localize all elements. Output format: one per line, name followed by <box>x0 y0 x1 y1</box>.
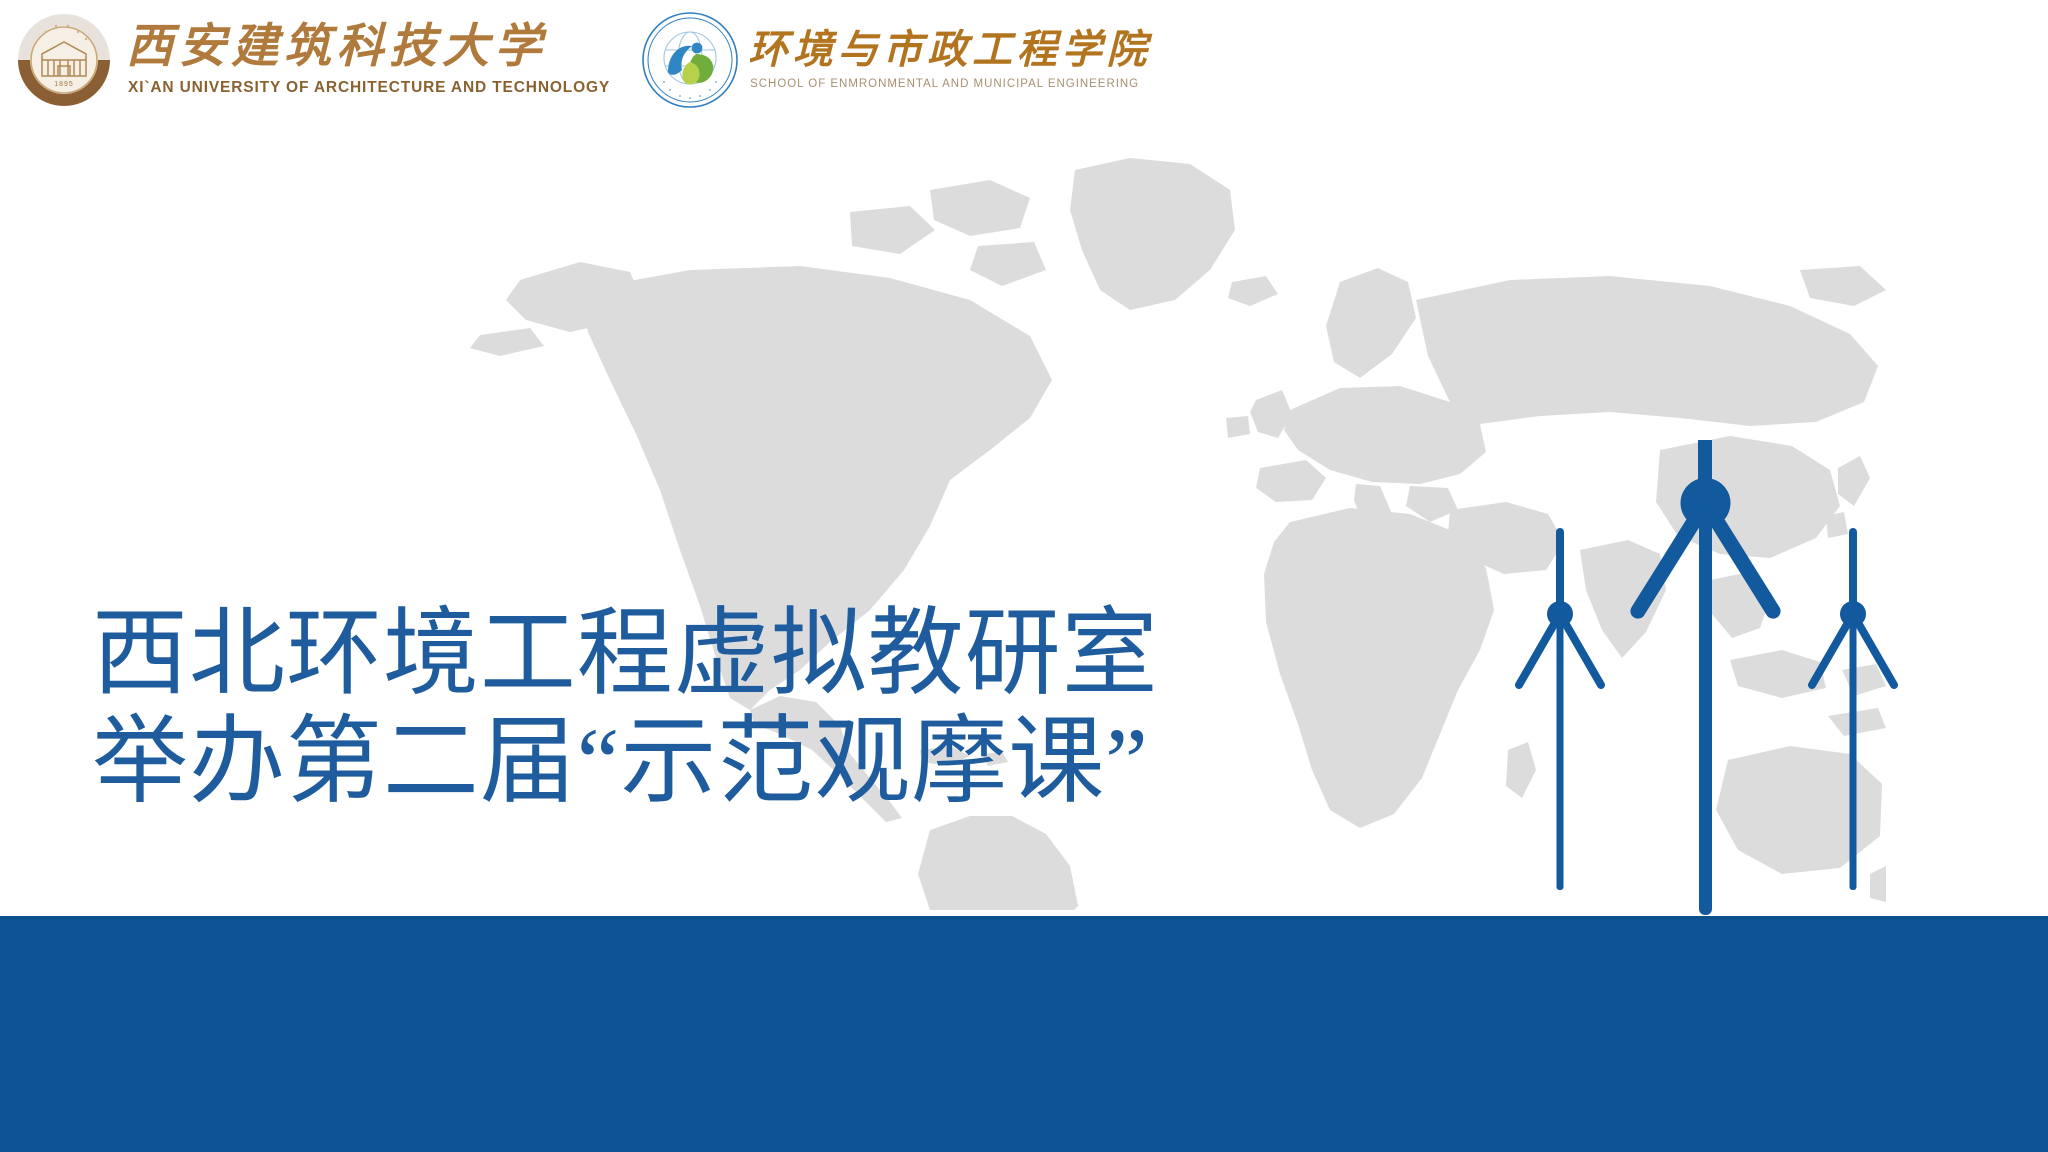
bottom-blue-band <box>0 916 2048 1152</box>
turbine-left <box>1514 528 1607 890</box>
school-seal-icon <box>640 10 740 110</box>
turbine-right <box>1807 528 1900 890</box>
title-line-2: 举办第二届“示范观摩课” <box>92 708 1172 816</box>
school-chinese-name: 环境与市政工程学院 <box>748 30 1151 70</box>
bottom-band-top-edge <box>0 916 2048 919</box>
main-title: 西北环境工程虚拟教研室 举办第二届“示范观摩课” <box>92 600 1172 815</box>
university-chinese-name: 西安建筑科技大学 <box>126 24 610 71</box>
university-english-name: XI`AN UNIVERSITY OF ARCHITECTURE AND TEC… <box>128 80 610 96</box>
university-logo: 1895 西安建筑科技大学 XI`AN UNIVERSITY OF ARCHIT… <box>12 8 610 112</box>
school-english-name: SCHOOL OF ENMRONMENTAL AND MUNICIPAL ENG… <box>750 79 1151 91</box>
school-logo: 环境与市政工程学院 SCHOOL OF ENMRONMENTAL AND MUN… <box>640 10 1151 110</box>
title-line-1: 西北环境工程虚拟教研室 <box>92 600 1172 708</box>
xauat-seal-icon: 1895 <box>12 8 116 112</box>
header-logo-bar: 1895 西安建筑科技大学 XI`AN UNIVERSITY OF ARCHIT… <box>0 0 2048 120</box>
school-logo-text: 环境与市政工程学院 SCHOOL OF ENMRONMENTAL AND MUN… <box>740 30 1151 91</box>
slide-canvas: 1895 西安建筑科技大学 XI`AN UNIVERSITY OF ARCHIT… <box>0 0 2048 1152</box>
svg-text:1895: 1895 <box>54 81 74 88</box>
turbine-center <box>1628 440 1784 915</box>
university-logo-text: 西安建筑科技大学 XI`AN UNIVERSITY OF ARCHITECTUR… <box>116 24 610 96</box>
wind-turbines-graphic <box>1480 440 1980 920</box>
